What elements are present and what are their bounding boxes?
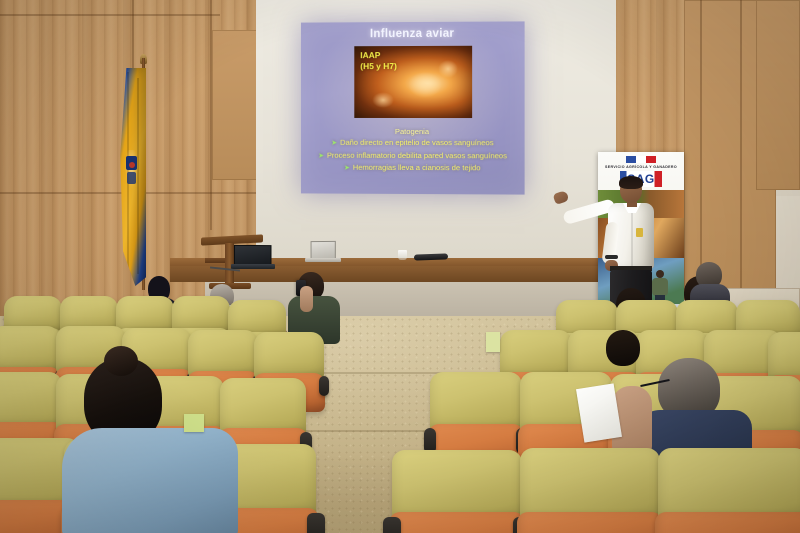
wall-panel-seam (0, 14, 220, 16)
presenter-shirt-placket (631, 210, 633, 266)
seat[interactable] (520, 448, 660, 533)
seat[interactable] (392, 450, 522, 533)
slide-bullet: Proceso inflamatorio debilita pared vaso… (301, 150, 525, 163)
chile-flag-icon (626, 156, 656, 163)
wall-panel-seam (740, 0, 742, 300)
slide-bullet: Hemorragias lleva a cianosis de tejido (301, 162, 525, 175)
slide-bullet: Daño directo en epitelio de vasos sanguí… (301, 137, 525, 150)
slide-caption-line2: (H5 y H7) (360, 61, 397, 71)
banner-subtitle: SERVICIO AGRÍCOLA Y GANADERO (598, 165, 684, 169)
audience-member-bun (62, 344, 242, 533)
seat[interactable] (658, 448, 800, 533)
presenter-watch (605, 255, 618, 259)
presenter-hair (619, 176, 643, 189)
laptop-dark-keyboard[interactable] (231, 264, 275, 269)
wall-panel-seam (700, 0, 702, 300)
laptop-light-keyboard[interactable] (305, 258, 341, 262)
presenter-badge (636, 228, 643, 237)
slide-caption-line1: IAAP (360, 50, 380, 60)
slide-title: Influenza aviar (301, 27, 525, 40)
presentation-room-photo: Influenza aviar IAAP (H5 y H7) Patogenia… (0, 0, 800, 533)
projection-screen: Influenza aviar IAAP (H5 y H7) Patogenia… (301, 21, 525, 194)
audience-member (688, 262, 732, 304)
drinking-glass (398, 250, 407, 260)
handout-papers[interactable] (576, 383, 622, 442)
paper-on-seat (486, 332, 500, 352)
presentation-remote[interactable] (414, 253, 448, 260)
slide-image-caption: IAAP (H5 y H7) (360, 50, 397, 72)
slide-body: Patogenia Daño directo en epitelio de va… (301, 126, 525, 175)
raised-arm (300, 286, 314, 312)
flag-emblem (124, 150, 139, 192)
slide-section-heading: Patogenia (301, 126, 525, 138)
right-wood-panel-2 (756, 0, 800, 190)
badge-paper (184, 414, 204, 432)
